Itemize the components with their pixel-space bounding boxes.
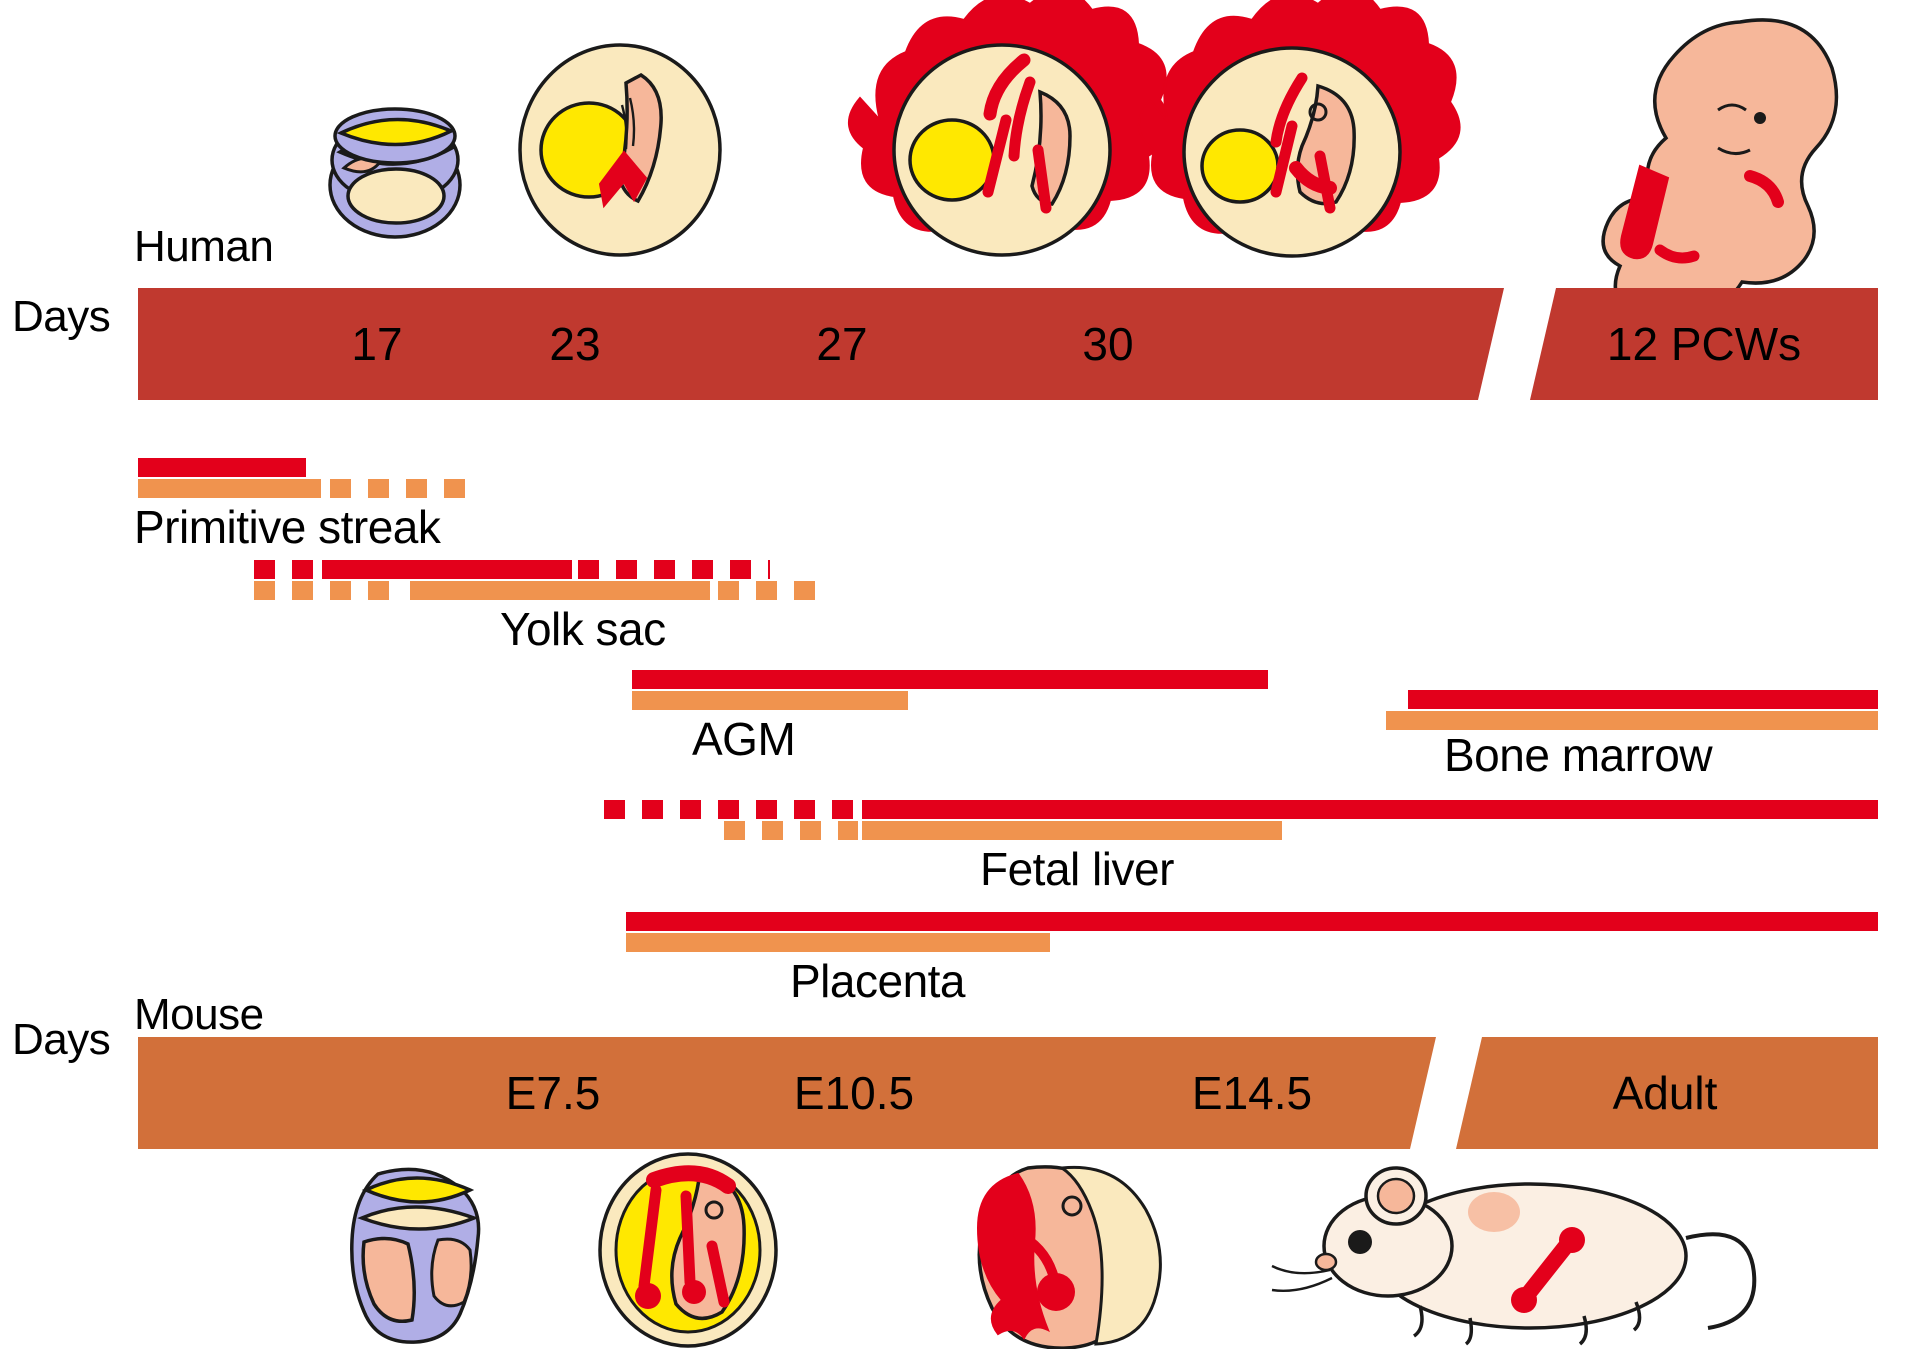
fetus-12-pcws-icon <box>1603 20 1836 290</box>
human-species-label: Human <box>134 222 273 272</box>
mouse-stage-e14-5: E14.5 <box>1192 1066 1312 1120</box>
tissue-label-yolk-sac: Yolk sac <box>500 602 666 656</box>
embryo-day-30-icon <box>1139 0 1460 256</box>
lane-primitive-streak <box>138 458 1878 498</box>
human-stage-27: 27 <box>816 317 867 371</box>
mouse-days-label: Days <box>12 1015 110 1065</box>
mouse-embryo-e10-5-icon <box>600 1154 776 1346</box>
embryo-day-27-icon <box>849 0 1170 255</box>
tissue-label-fetal-liver: Fetal liver <box>980 842 1174 896</box>
human-stage-30: 30 <box>1082 317 1133 371</box>
lane-yolk-sac <box>138 560 1878 600</box>
embryo-day-23-icon <box>520 45 720 255</box>
yolk-sac-mouse-dashed-left <box>254 581 394 600</box>
human-stage-12-pcws: 12 PCWs <box>1607 317 1801 371</box>
mouse-stage-e10-5: E10.5 <box>794 1066 914 1120</box>
yolk-sac-mouse-bar <box>410 581 710 600</box>
tissue-label-bone-marrow: Bone marrow <box>1444 728 1712 782</box>
bone-marrow-human-bar <box>1408 690 1878 709</box>
lane-placenta <box>138 912 1878 952</box>
human-stage-17: 17 <box>351 317 402 371</box>
placenta-mouse-bar <box>626 933 1050 952</box>
mouse-stage-e7-5: E7.5 <box>506 1066 601 1120</box>
primitive-streak-mouse-bar <box>138 479 321 498</box>
placenta-human-bar <box>626 912 1878 931</box>
tissue-label-placenta: Placenta <box>790 954 965 1008</box>
yolk-sac-mouse-dashed-right <box>718 581 820 600</box>
human-embryo-illustrations <box>0 0 1920 290</box>
primitive-streak-human-bar <box>138 458 306 477</box>
mouse-embryo-illustrations <box>0 1150 1920 1349</box>
human-days-label: Days <box>12 292 110 342</box>
fetal-liver-mouse-dashed <box>724 821 858 840</box>
mouse-era-bar: E7.5 E10.5 E14.5 Adult <box>138 1037 1878 1149</box>
mouse-stage-adult: Adult <box>1613 1066 1718 1120</box>
lane-bone-marrow <box>138 690 1878 730</box>
human-era-bar: 17 23 27 30 12 PCWs <box>138 288 1878 400</box>
yolk-sac-human-dashed-left <box>254 560 322 579</box>
human-stage-23: 23 <box>549 317 600 371</box>
fetal-liver-mouse-bar <box>862 821 1282 840</box>
tissue-label-primitive-streak: Primitive streak <box>134 500 440 554</box>
fetal-liver-human-bar <box>862 800 1878 819</box>
lane-fetal-liver <box>138 800 1878 840</box>
adult-mouse-icon <box>1272 1168 1754 1344</box>
yolk-sac-human-dashed-right <box>578 560 770 579</box>
primitive-streak-mouse-dashed <box>330 479 470 498</box>
embryo-day-17-icon <box>330 109 460 237</box>
mouse-species-label: Mouse <box>134 990 264 1040</box>
mouse-embryo-e7-5-icon <box>352 1169 479 1342</box>
mouse-embryo-e14-5-icon <box>978 1167 1160 1348</box>
yolk-sac-human-bar <box>322 560 572 579</box>
fetal-liver-human-dashed <box>604 800 862 819</box>
agm-human-bar <box>632 670 1268 689</box>
figure-canvas: Days Human 17 23 27 30 12 PCWs Primitive… <box>0 0 1920 1349</box>
